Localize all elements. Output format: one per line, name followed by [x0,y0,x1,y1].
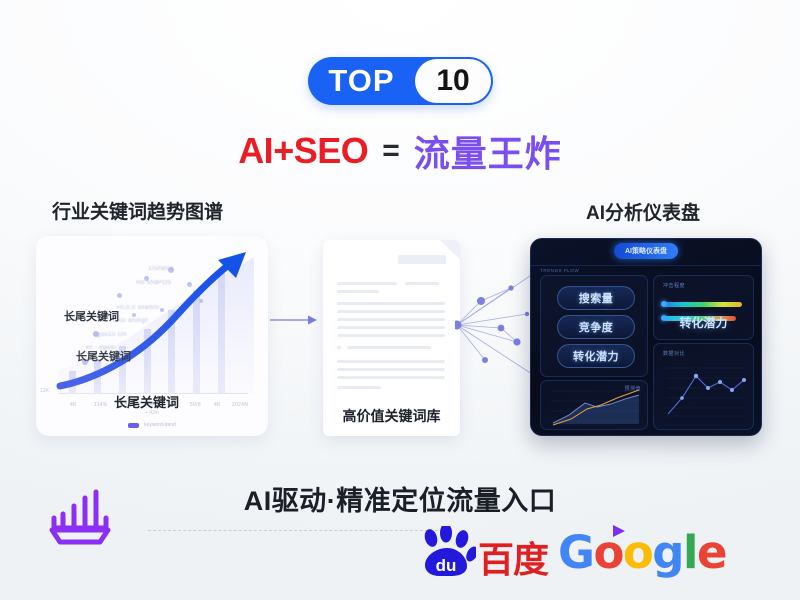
legend-label: keyword-trend [144,422,176,428]
trend-legend: keyword-trend [36,422,268,428]
flow-arrow-icon [270,314,318,326]
trend-x-tick: 4K [214,402,221,408]
top-badge-word: TOP [308,63,415,99]
longtail-keyword-label: 长尾关键词 [114,392,179,411]
google-logo: G o o g l e [558,530,726,575]
metric-pill-search-volume[interactable]: 搜索量 [557,286,635,310]
google-letter: e [697,530,726,575]
dashboard-title: AI策略仪表盘 [614,243,678,259]
baidu-chinese-text: 百度 [478,542,548,578]
left-section-caption: 行业关键词趋势图谱 [52,197,223,224]
baidu-paw-icon: du [420,526,476,578]
dashboard-brand: TRENDS FLOW [540,268,579,273]
gauge-marker-dot [661,301,667,307]
partner-logos: du 百度 G o o g l e [420,520,750,584]
area-chart-svg [541,381,647,429]
gauge-bar-primary [664,302,742,307]
metric-pill-competition[interactable]: 竞争度 [557,315,635,339]
line-chart-svg [654,344,753,429]
baidu-du-text: du [436,556,457,575]
slide-canvas: TOP 10 AI+SEO = 流量王炸 行业关键词趋势图谱 AI分析仪表盘 [0,0,800,600]
trend-x-tick: 50/8 [190,402,201,408]
trend-y-tick: 12K [40,388,49,394]
longtail-keyword-label: 长尾关键词 [76,348,131,364]
gauge-overlay-label: 转化潜力 [654,314,753,331]
headline-equals: = [382,134,400,168]
node-network-graphic [455,268,540,383]
gauge-panel-label: 冲击程度 [663,282,685,289]
longtail-keyword-label: 长尾关键词 [64,308,119,324]
doc-card-label: 高价值关键词库 [323,406,460,426]
google-letter: l [683,530,697,575]
trend-x-tick: 114% [94,402,108,408]
right-section-caption: AI分析仪表盘 [586,198,700,225]
google-letter: G [558,530,593,575]
bottom-tagline: AI驱动·精准定位流量入口 [0,479,800,518]
metric-pill-conversion[interactable]: 转化潜力 [557,344,635,368]
trend-x-tick: 4K [70,402,77,408]
headline-left: AI+SEO [238,130,368,172]
doc-header-chip [398,255,446,264]
keyword-library-doc-card: 高价值关键词库 [323,240,460,436]
metric-pills-panel: 搜索量 竞争度 转化潜力 [540,275,648,377]
top-badge-number: 10 [415,59,491,103]
google-letter: o [623,530,652,575]
headline-right: 流量王炸 [414,125,562,177]
comparison-line-panel: 数据对比 [653,343,754,430]
ai-dashboard-card: AI策略仪表盘 TRENDS FLOW 搜索量 竞争度 转化潜力 预测值 [530,238,762,436]
google-letter: g [652,530,683,575]
area-chart-panel: 预测值 [540,380,648,430]
divider-dashed-line [148,530,438,531]
top-rank-badge: TOP 10 [308,57,493,105]
page-title: AI+SEO = 流量王炸 [0,126,800,176]
bar-chart-pedestal-icon [46,484,114,546]
legend-swatch [128,423,139,428]
trend-x-tick: 2024N [232,402,248,408]
baidu-logo: du 百度 [420,526,548,578]
play-triangle-icon [611,524,627,538]
keyword-trend-card: 1/Gfatos Ho shdPOS v0,0,0 snaltini 0AG a… [36,236,268,436]
impact-gauge-panel: 冲击程度 转化潜力 [653,275,754,340]
